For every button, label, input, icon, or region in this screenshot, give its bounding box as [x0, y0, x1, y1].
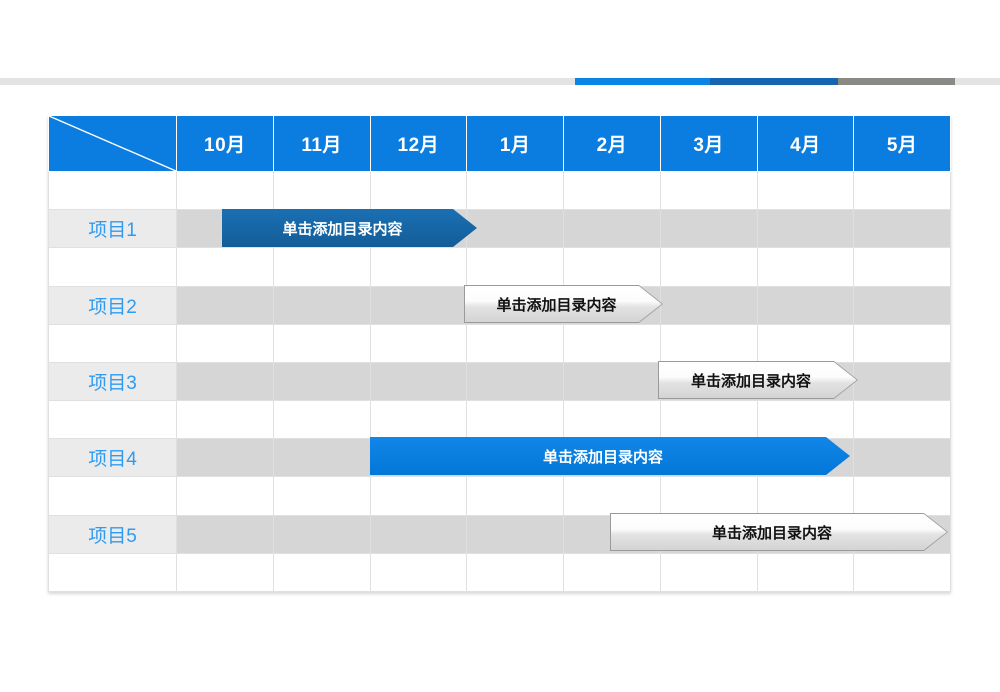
row-label-cell	[49, 324, 177, 362]
grid-cell	[177, 362, 274, 400]
row-label-cell	[49, 401, 177, 439]
grid-cell	[467, 477, 564, 515]
grid-cell	[564, 401, 661, 439]
gantt-bar-4[interactable]: 单击添加目录内容	[370, 437, 850, 475]
grid-cell	[854, 172, 951, 210]
table-spacer-row	[49, 401, 951, 439]
grid-cell	[660, 401, 757, 439]
grid-cell	[273, 477, 370, 515]
grid-cell	[854, 401, 951, 439]
grid-cell	[273, 439, 370, 477]
column-header-month: 5月	[854, 116, 951, 172]
grid-cell	[370, 515, 467, 553]
grid-cell	[660, 286, 757, 324]
grid-cell	[370, 401, 467, 439]
grid-cell	[660, 210, 757, 248]
grid-cell	[757, 477, 854, 515]
rule-segment-bright-blue	[575, 78, 710, 85]
row-label-project-4: 项目4	[49, 439, 177, 477]
gantt-bar-label: 单击添加目录内容	[543, 446, 677, 467]
row-label-project-5: 项目5	[49, 515, 177, 553]
grid-cell	[564, 362, 661, 400]
grid-cell	[757, 324, 854, 362]
grid-cell	[564, 553, 661, 591]
grid-cell	[467, 515, 564, 553]
grid-cell	[370, 477, 467, 515]
table-spacer-row	[49, 248, 951, 286]
grid-cell	[757, 210, 854, 248]
grid-cell	[757, 248, 854, 286]
grid-cell	[660, 248, 757, 286]
gantt-bar-5[interactable]: 单击添加目录内容	[610, 513, 948, 551]
grid-cell	[660, 172, 757, 210]
grid-cell	[177, 515, 274, 553]
row-label-cell	[49, 477, 177, 515]
table-spacer-row	[49, 477, 951, 515]
grid-cell	[370, 172, 467, 210]
diagonal-split-header	[49, 116, 177, 172]
grid-cell	[564, 172, 661, 210]
grid-cell	[370, 362, 467, 400]
grid-cell	[273, 553, 370, 591]
rule-segment-gray	[838, 78, 955, 85]
grid-cell	[370, 248, 467, 286]
gantt-bar-label: 单击添加目录内容	[496, 294, 630, 315]
grid-cell	[757, 401, 854, 439]
grid-cell	[177, 439, 274, 477]
table-header-row: 10月 11月 12月 1月 2月 3月 4月 5月	[49, 116, 951, 172]
grid-cell	[273, 515, 370, 553]
grid-cell	[660, 553, 757, 591]
grid-cell	[273, 362, 370, 400]
grid-cell	[273, 324, 370, 362]
grid-cell	[757, 553, 854, 591]
row-label-cell	[49, 553, 177, 591]
grid-cell	[370, 553, 467, 591]
grid-cell	[177, 553, 274, 591]
column-header-month: 3月	[660, 116, 757, 172]
grid-cell	[854, 210, 951, 248]
gantt-bar-2[interactable]: 单击添加目录内容	[464, 285, 663, 323]
grid-cell	[757, 286, 854, 324]
table-spacer-row	[49, 553, 951, 591]
grid-cell	[177, 286, 274, 324]
grid-cell	[564, 324, 661, 362]
column-header-month: 1月	[467, 116, 564, 172]
grid-cell	[467, 553, 564, 591]
grid-cell	[467, 210, 564, 248]
table-spacer-row	[49, 324, 951, 362]
grid-cell	[467, 172, 564, 210]
gantt-bar-label: 单击添加目录内容	[691, 370, 825, 391]
gantt-bar-label: 单击添加目录内容	[282, 218, 416, 239]
grid-cell	[854, 248, 951, 286]
grid-cell	[467, 324, 564, 362]
grid-cell	[177, 248, 274, 286]
column-header-month: 10月	[177, 116, 274, 172]
grid-cell	[854, 286, 951, 324]
grid-cell	[854, 439, 951, 477]
grid-cell	[273, 172, 370, 210]
grid-cell	[273, 248, 370, 286]
column-header-month: 11月	[273, 116, 370, 172]
row-label-project-3: 项目3	[49, 362, 177, 400]
column-header-month: 2月	[564, 116, 661, 172]
grid-cell	[370, 324, 467, 362]
grid-cell	[854, 362, 951, 400]
diagonal-line-icon	[49, 116, 176, 171]
row-label-project-1: 项目1	[49, 210, 177, 248]
gantt-bar-1[interactable]: 单击添加目录内容	[222, 209, 477, 247]
grid-cell	[177, 477, 274, 515]
grid-cell	[273, 401, 370, 439]
table-spacer-row	[49, 172, 951, 210]
column-header-month: 12月	[370, 116, 467, 172]
grid-cell	[660, 477, 757, 515]
table-row: 项目1	[49, 210, 951, 248]
grid-cell	[564, 248, 661, 286]
grid-cell	[177, 172, 274, 210]
rule-segment-dark-blue	[710, 78, 838, 85]
grid-cell	[467, 401, 564, 439]
grid-cell	[854, 324, 951, 362]
grid-cell	[854, 553, 951, 591]
gantt-bar-3[interactable]: 单击添加目录内容	[658, 361, 858, 399]
grid-cell	[854, 477, 951, 515]
grid-cell	[467, 362, 564, 400]
grid-cell	[177, 401, 274, 439]
gantt-bar-label: 单击添加目录内容	[712, 522, 846, 543]
grid-cell	[370, 286, 467, 324]
grid-cell	[564, 210, 661, 248]
grid-cell	[177, 324, 274, 362]
row-label-project-2: 项目2	[49, 286, 177, 324]
row-label-cell	[49, 172, 177, 210]
grid-cell	[660, 324, 757, 362]
grid-cell	[757, 172, 854, 210]
column-header-month: 4月	[757, 116, 854, 172]
row-label-cell	[49, 248, 177, 286]
grid-cell	[273, 286, 370, 324]
grid-cell	[564, 477, 661, 515]
top-decorative-rule	[0, 78, 1000, 85]
grid-cell	[467, 248, 564, 286]
